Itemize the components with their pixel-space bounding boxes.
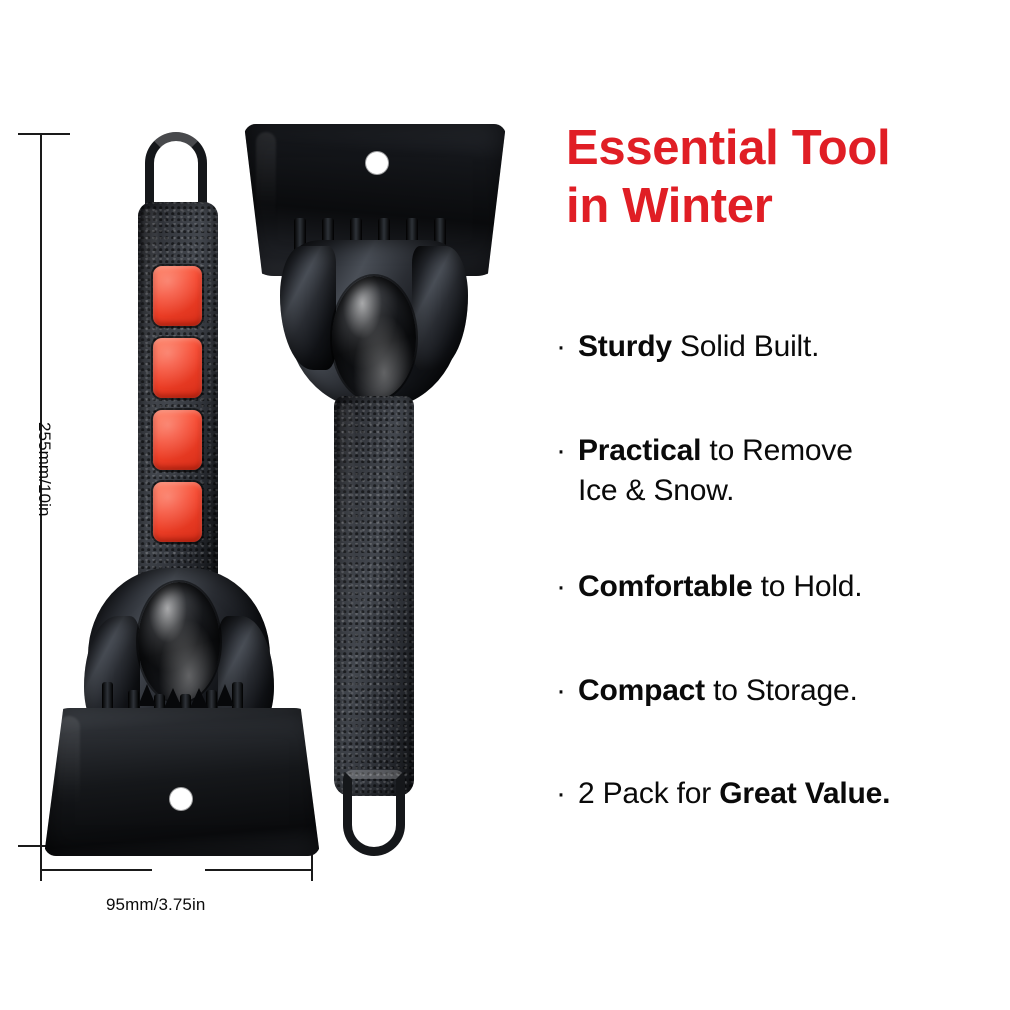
list-item-rest: to Hold.	[752, 570, 862, 603]
list-item-emphasis: Practical	[578, 434, 701, 467]
list-item: · Compact to Storage.	[556, 671, 1008, 711]
right-head-wing-left	[280, 246, 336, 370]
right-blade-hole	[366, 152, 388, 174]
list-item-emphasis: Comfortable	[578, 570, 752, 603]
list-item-rest: Solid Built.	[672, 330, 819, 363]
width-rule-left	[40, 869, 152, 871]
right-head-wing-right	[412, 246, 468, 370]
grip-pad	[153, 266, 202, 326]
grip-pad	[153, 410, 202, 470]
right-scraper-hang-loop	[343, 770, 405, 856]
list-item-text: Practical to Remove Ice & Snow.	[578, 431, 1008, 511]
right-scraper-product	[238, 120, 528, 850]
page-title-line-2: in Winter	[566, 178, 1006, 236]
list-item: · Practical to Remove Ice & Snow.	[556, 431, 1008, 511]
list-item-line-2: Ice & Snow.	[578, 471, 1008, 511]
list-item-emphasis: Compact	[578, 674, 705, 707]
tooth-point	[138, 684, 156, 706]
list-item-emphasis: Great Value.	[719, 777, 890, 810]
tooth-point	[216, 684, 234, 706]
list-item-text: Comfortable to Hold.	[578, 567, 1008, 607]
tooth-point	[164, 688, 182, 708]
width-rule-right	[205, 869, 313, 871]
list-item-text: Compact to Storage.	[578, 671, 1008, 711]
page-title: Essential Tool in Winter	[566, 120, 1006, 236]
list-item-text: 2 Pack for Great Value.	[578, 774, 1008, 814]
bullet-marker: ·	[556, 567, 578, 607]
bullet-marker: ·	[556, 431, 578, 471]
page-title-line-1: Essential Tool	[566, 120, 1006, 178]
list-item-emphasis: Sturdy	[578, 330, 672, 363]
list-item-rest: to Remove	[701, 434, 852, 467]
tooth-point	[190, 688, 208, 708]
bullet-marker: ·	[556, 327, 578, 367]
bullet-marker: ·	[556, 671, 578, 711]
grip-pad	[153, 338, 202, 398]
left-blade-hole	[170, 788, 192, 810]
width-dimension-label: 95mm/3.75in	[106, 895, 205, 915]
right-head-oval-recess	[332, 276, 416, 400]
right-scraper-foam-handle	[334, 396, 414, 796]
bullet-marker: ·	[556, 774, 578, 814]
infographic-canvas: 255mm/10in 95mm/3.75in	[0, 0, 1010, 1010]
list-item: · Comfortable to Hold.	[556, 567, 1008, 607]
list-item: · 2 Pack for Great Value.	[556, 774, 1008, 814]
list-item-text: Sturdy Solid Built.	[578, 327, 1008, 367]
list-item-rest: to Storage.	[705, 674, 858, 707]
feature-list: · Sturdy Solid Built. · Practical to Rem…	[556, 327, 1008, 814]
grip-pad	[153, 482, 202, 542]
list-item-rest: 2 Pack for	[578, 777, 719, 810]
list-item: · Sturdy Solid Built.	[556, 327, 1008, 367]
